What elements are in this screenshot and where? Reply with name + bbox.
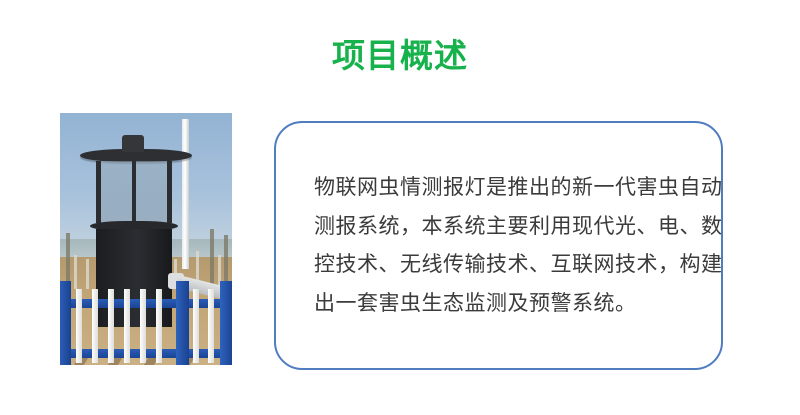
photo-lamp-top-cap <box>122 135 144 152</box>
photo-fence-picket <box>156 289 162 363</box>
photo-trellis-post <box>66 233 70 285</box>
description-line: 出一套害虫生态监测及预警系统。 <box>314 285 696 324</box>
photo-trellis-post <box>224 235 228 285</box>
description-line: 控技术、无线传输技术、互联网技术，构建 <box>314 246 696 285</box>
photo-fence-picket <box>92 289 98 363</box>
description-line: 测报系统，本系统主要利用现代光、电、数 <box>314 208 696 247</box>
description-line: 物联网虫情测报灯是推出的新一代害虫自动 <box>314 169 696 208</box>
photo-field-stake <box>74 255 77 289</box>
photo-fence-rail <box>60 299 232 308</box>
photo-fence-post <box>220 281 232 365</box>
photo-field-stake <box>86 259 89 289</box>
photo-fence-picket <box>193 289 199 363</box>
photo-fence-rail <box>60 349 232 358</box>
photo-lamp-frame-bar <box>132 161 136 223</box>
photo-fence-post <box>60 281 71 365</box>
photo-fence-picket <box>76 289 82 363</box>
photo-trellis-post <box>210 229 214 287</box>
photo-fence-picket <box>124 289 130 363</box>
description-card: 物联网虫情测报灯是推出的新一代害虫自动 测报系统，本系统主要利用现代光、电、数 … <box>274 121 723 370</box>
description-text: 物联网虫情测报灯是推出的新一代害虫自动 测报系统，本系统主要利用现代光、电、数 … <box>314 169 696 323</box>
photo-mast-pole <box>182 119 189 269</box>
photo-fence-picket <box>140 289 146 363</box>
photo-scene <box>60 113 232 365</box>
slide-root: 项目概述 <box>0 0 800 415</box>
photo-fence-picket <box>208 289 214 363</box>
photo-fence-post <box>176 281 189 365</box>
page-title: 项目概述 <box>0 36 800 76</box>
insect-monitoring-lamp-photo <box>60 113 232 365</box>
photo-fence-picket <box>108 289 114 363</box>
